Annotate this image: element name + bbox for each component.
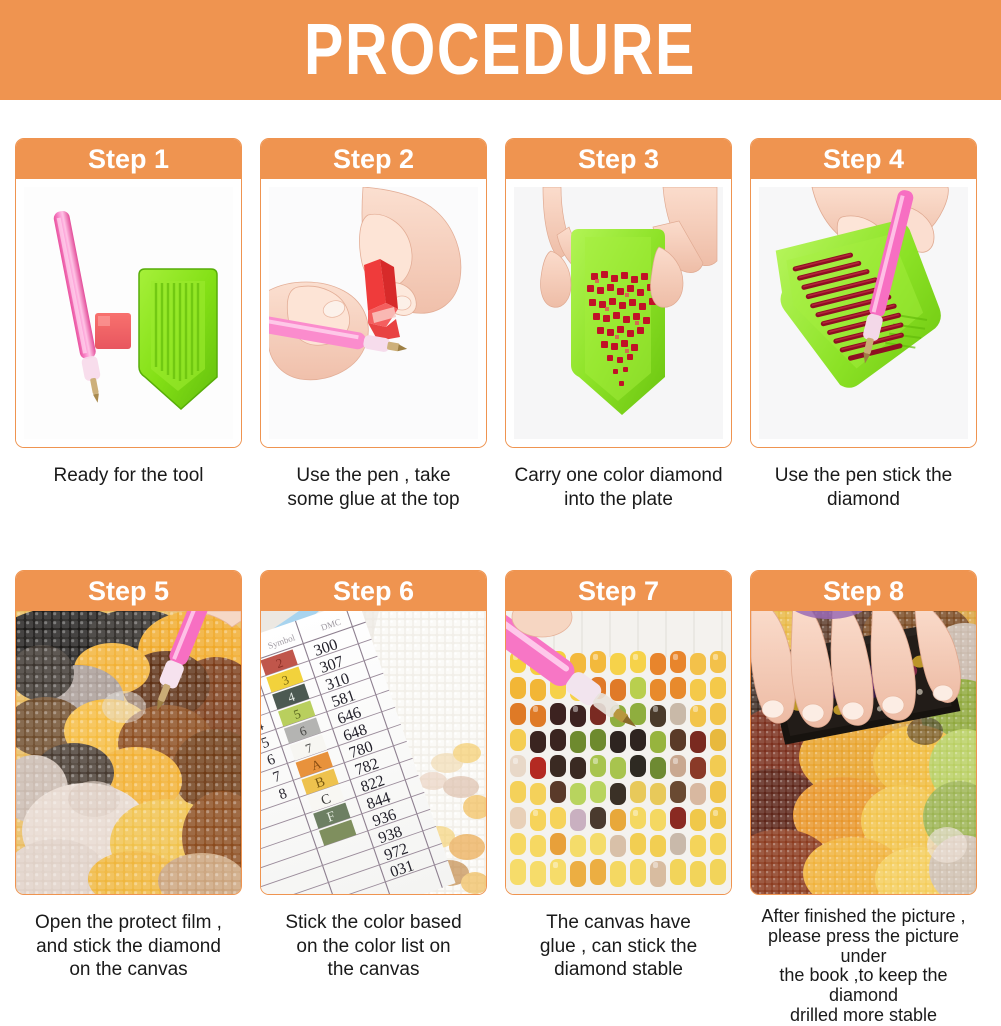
step-card-2: Step 2	[260, 138, 487, 448]
steps-row-top: Step 1	[15, 138, 977, 511]
step-label-1: Step 1	[88, 146, 169, 173]
step-caption-8: After finished the picture , please pres…	[750, 907, 977, 1026]
step-photo-7	[506, 611, 731, 894]
step-label-3: Step 3	[578, 146, 659, 173]
step-item-5: Step 5	[15, 570, 242, 1026]
procedure-infographic: PROCEDURE Step 1	[0, 0, 1001, 1001]
step-caption-5: Open the protect film , and stick the di…	[15, 911, 242, 982]
step-caption-7: The canvas have glue , can stick the dia…	[505, 911, 732, 982]
photo-color-chart: Serial Symbol DMC 1 2 3 4 5	[261, 611, 486, 894]
step-photo-8	[751, 611, 976, 894]
step-card-3: Step 3	[505, 138, 732, 448]
step-label-8: Step 8	[823, 578, 904, 605]
photo-tray-red-diamonds	[514, 187, 723, 439]
step-label-4: Step 4	[823, 146, 904, 173]
step-card-5: Step 5	[15, 570, 242, 895]
step-photo-4	[751, 179, 976, 447]
step-label-7: Step 7	[578, 578, 659, 605]
step-photo-3	[506, 179, 731, 447]
page-banner: PROCEDURE	[0, 0, 1001, 100]
photo-press-with-book	[751, 611, 976, 894]
step-card-7: Step 7	[505, 570, 732, 895]
step-header-4: Step 4	[751, 139, 976, 179]
steps-row-bottom: Step 5	[15, 570, 977, 1026]
photo-hands-glue-pen	[269, 187, 478, 439]
step-label-6: Step 6	[333, 578, 414, 605]
step-card-6: Step 6	[260, 570, 487, 895]
step-caption-3: Carry one color diamond into the plate	[505, 464, 732, 511]
step-label-2: Step 2	[333, 146, 414, 173]
bead-grid	[510, 651, 726, 887]
page-title: PROCEDURE	[304, 14, 696, 86]
step-caption-2: Use the pen , take some glue at the top	[260, 464, 487, 511]
step-item-2: Step 2	[260, 138, 487, 511]
step-card-1: Step 1	[15, 138, 242, 448]
step-photo-2	[261, 179, 486, 447]
step-header-3: Step 3	[506, 139, 731, 179]
step-header-7: Step 7	[506, 571, 731, 611]
photo-round-diamonds-macro	[506, 611, 731, 894]
step-header-1: Step 1	[16, 139, 241, 179]
step-header-6: Step 6	[261, 571, 486, 611]
step-label-5: Step 5	[88, 578, 169, 605]
step-card-8: Step 8	[750, 570, 977, 895]
photo-pen-picks-diamond	[759, 187, 968, 439]
step-item-3: Step 3	[505, 138, 732, 511]
step-photo-1	[16, 179, 241, 447]
step-header-8: Step 8	[751, 571, 976, 611]
step-item-6: Step 6	[260, 570, 487, 1026]
step-item-1: Step 1	[15, 138, 242, 511]
step-item-7: Step 7	[505, 570, 732, 1026]
step-photo-5	[16, 611, 241, 894]
step-caption-4: Use the pen stick the diamond	[750, 464, 977, 511]
step-caption-6: Stick the color based on the color list …	[260, 911, 487, 982]
step-caption-1: Ready for the tool	[15, 464, 242, 488]
step-photo-6: Serial Symbol DMC 1 2 3 4 5	[261, 611, 486, 894]
photo-canvas-sunflower-pen	[16, 611, 241, 894]
step-card-4: Step 4	[750, 138, 977, 448]
step-item-8: Step 8	[750, 570, 977, 1026]
step-item-4: Step 4	[750, 138, 977, 511]
step-header-5: Step 5	[16, 571, 241, 611]
photo-pen-glue-tray	[24, 187, 233, 439]
step-header-2: Step 2	[261, 139, 486, 179]
